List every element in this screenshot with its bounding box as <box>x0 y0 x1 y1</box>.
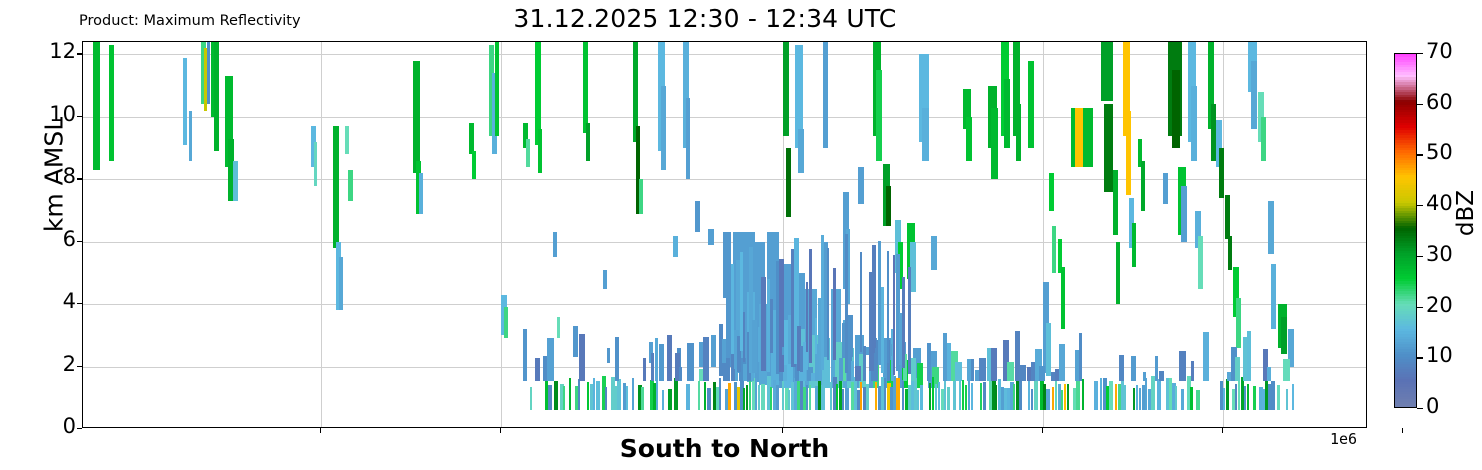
reflectivity-cell <box>1034 381 1038 410</box>
colorbar-tick-mark <box>1417 104 1423 105</box>
reflectivity-cell <box>1238 378 1240 410</box>
reflectivity-cell <box>755 378 757 410</box>
reflectivity-cell <box>1179 351 1186 381</box>
reflectivity-cell <box>965 385 967 410</box>
reflectivity-cell <box>1083 108 1088 167</box>
reflectivity-cell <box>698 381 700 409</box>
reflectivity-cell <box>1064 384 1066 410</box>
reflectivity-cell <box>893 255 895 375</box>
reflectivity-cell <box>1039 366 1045 381</box>
reflectivity-cell <box>1067 384 1069 410</box>
reflectivity-cell <box>1261 117 1266 161</box>
reflectivity-cell <box>902 277 905 369</box>
reflectivity-cell <box>617 379 621 410</box>
reflectivity-cell <box>233 161 238 202</box>
reflectivity-cell <box>504 307 508 338</box>
gridline-horizontal <box>83 179 1366 180</box>
reflectivity-cell <box>858 167 864 204</box>
reflectivity-cell <box>872 245 876 354</box>
reflectivity-cell <box>798 129 804 173</box>
reflectivity-cell <box>662 390 664 410</box>
reflectivity-cell <box>1061 267 1065 329</box>
reflectivity-cell <box>866 384 869 409</box>
reflectivity-cell <box>1031 389 1033 410</box>
reflectivity-cell <box>971 383 973 409</box>
reflectivity-cell <box>1283 359 1290 381</box>
reflectivity-cell <box>783 42 789 136</box>
reflectivity-cell <box>639 179 643 213</box>
reflectivity-cell <box>991 348 997 381</box>
reflectivity-cell <box>1271 264 1276 330</box>
reflectivity-cell <box>1225 195 1230 239</box>
colorbar <box>1394 53 1417 408</box>
colorbar-label: dBZ <box>1453 153 1479 273</box>
reflectivity-cell <box>979 358 986 381</box>
reflectivity-cell <box>860 382 862 410</box>
reflectivity-cell <box>1228 236 1232 270</box>
reflectivity-cell <box>1251 61 1257 130</box>
reflectivity-cell <box>1235 357 1240 380</box>
reflectivity-cell <box>1007 362 1014 381</box>
reflectivity-cell <box>1286 389 1288 410</box>
reflectivity-cell <box>314 142 317 186</box>
x-axis-tick-mark <box>1222 428 1223 433</box>
reflectivity-cell <box>708 229 714 245</box>
reflectivity-cell <box>920 385 923 410</box>
reflectivity-cell <box>1059 344 1065 381</box>
reflectivity-cell <box>548 385 552 410</box>
reflectivity-cell <box>1281 317 1287 354</box>
x-axis-tick-mark <box>1402 428 1403 433</box>
reflectivity-cell <box>991 108 998 180</box>
colorbar-tick-mark <box>1417 408 1423 409</box>
x-axis-label: South to North <box>82 434 1367 463</box>
reflectivity-cell <box>686 98 690 179</box>
y-axis-tick-label: 0 <box>16 414 76 438</box>
reflectivity-cell <box>938 382 940 410</box>
colorbar-tick-label: 30 <box>1426 242 1453 266</box>
y-axis-tick-mark <box>77 116 82 117</box>
reflectivity-cell <box>881 287 884 373</box>
reflectivity-cell <box>1119 355 1124 381</box>
reflectivity-cell <box>695 201 700 232</box>
reflectivity-cell <box>651 353 654 381</box>
reflectivity-cell <box>944 378 946 410</box>
reflectivity-cell <box>823 42 828 148</box>
reflectivity-cell <box>884 378 886 409</box>
colorbar-tick-mark <box>1417 307 1423 308</box>
reflectivity-cell <box>917 390 919 410</box>
reflectivity-cell <box>1004 79 1010 148</box>
colorbar-tick-label: 60 <box>1426 90 1453 114</box>
reflectivity-cell <box>809 249 812 364</box>
reflectivity-cell <box>1131 356 1136 381</box>
reflectivity-cell <box>770 387 772 410</box>
reflectivity-cell <box>348 170 353 201</box>
reflectivity-cell <box>782 381 784 410</box>
reflectivity-cell <box>1247 331 1251 380</box>
reflectivity-cell <box>656 378 658 410</box>
reflectivity-cell <box>593 378 595 410</box>
reflectivity-cell <box>1151 376 1155 409</box>
reflectivity-cell <box>886 186 891 227</box>
reflectivity-cell <box>927 343 931 380</box>
reflectivity-cell <box>1126 111 1131 195</box>
reflectivity-cell <box>743 388 745 410</box>
reflectivity-cell <box>848 315 853 357</box>
reflectivity-cell <box>1271 381 1275 410</box>
reflectivity-cell <box>472 151 476 179</box>
reflectivity-cell <box>1268 201 1274 254</box>
reflectivity-cell <box>1113 170 1118 236</box>
colorbar-tick-label: 50 <box>1426 140 1453 164</box>
reflectivity-cell <box>1079 333 1082 381</box>
reflectivity-cell <box>931 236 937 270</box>
chart-title: 31.12.2025 12:30 - 12:34 UTC <box>0 4 1410 33</box>
colorbar-tick-label: 40 <box>1426 191 1453 215</box>
reflectivity-cell <box>641 387 644 409</box>
reflectivity-cell <box>887 251 889 362</box>
reflectivity-cell <box>955 362 962 380</box>
reflectivity-cell <box>947 387 950 410</box>
reflectivity-cell <box>1052 387 1054 410</box>
colorbar-tick-mark <box>1417 256 1423 257</box>
reflectivity-cell <box>761 277 766 371</box>
reflectivity-cell <box>966 117 972 161</box>
reflectivity-cell <box>523 329 527 380</box>
reflectivity-cell <box>1019 365 1026 381</box>
reflectivity-cell <box>806 282 808 352</box>
reflectivity-cell <box>980 383 982 409</box>
reflectivity-cell <box>1101 42 1113 101</box>
reflectivity-cell <box>1175 386 1177 410</box>
reflectivity-cell <box>761 384 765 410</box>
reflectivity-cell <box>896 378 900 410</box>
reflectivity-cell <box>563 386 565 410</box>
reflectivity-cell <box>722 339 726 362</box>
reflectivity-cell <box>214 42 219 151</box>
reflectivity-cell <box>469 123 474 154</box>
reflectivity-cell <box>413 61 420 173</box>
reflectivity-cell <box>827 248 829 361</box>
y-axis-tick-mark <box>77 366 82 367</box>
colorbar-tick-label: 10 <box>1426 343 1453 367</box>
reflectivity-cell <box>603 270 607 289</box>
reflectivity-cell <box>855 366 861 380</box>
reflectivity-cell <box>749 381 751 409</box>
reflectivity-cell <box>1143 372 1146 381</box>
reflectivity-cell <box>719 378 721 410</box>
reflectivity-cell <box>833 268 836 361</box>
reflectivity-cell <box>538 129 542 173</box>
reflectivity-cell <box>1267 367 1271 381</box>
reflectivity-cell <box>1055 377 1057 410</box>
y-axis-tick-label: 12 <box>16 39 76 63</box>
y-axis-tick-mark <box>77 428 82 429</box>
reflectivity-cell <box>842 389 844 410</box>
reflectivity-cell <box>1172 70 1180 148</box>
reflectivity-cell <box>687 343 694 381</box>
y-axis-tick-mark <box>77 178 82 179</box>
reflectivity-cell <box>573 326 578 357</box>
reflectivity-cell <box>1028 379 1030 410</box>
reflectivity-cell <box>922 108 929 161</box>
reflectivity-cell <box>1136 385 1138 410</box>
reflectivity-cell <box>607 348 610 364</box>
reflectivity-cell <box>983 382 986 410</box>
reflectivity-cell <box>875 382 877 410</box>
reflectivity-cell <box>962 380 964 410</box>
plot-area <box>82 41 1367 428</box>
reflectivity-cell <box>553 232 557 257</box>
reflectivity-cell <box>1159 371 1164 381</box>
reflectivity-cell <box>1181 389 1184 409</box>
reflectivity-cell <box>851 361 854 381</box>
reflectivity-cell <box>770 299 773 352</box>
reflectivity-cell <box>605 387 607 410</box>
reflectivity-cell <box>782 347 784 355</box>
x-axis-tick-mark <box>782 428 783 433</box>
reflectivity-cell <box>1076 380 1080 410</box>
gridline-vertical <box>501 42 502 427</box>
reflectivity-cell <box>786 148 791 217</box>
reflectivity-cell <box>875 348 877 364</box>
x-axis-tick-mark <box>500 428 501 433</box>
reflectivity-cell <box>1145 378 1147 409</box>
reflectivity-cell <box>661 86 666 170</box>
reflectivity-cell <box>686 384 690 410</box>
reflectivity-cell <box>679 367 682 381</box>
reflectivity-cell <box>704 382 706 410</box>
reflectivity-cell <box>707 388 711 409</box>
reflectivity-cell <box>953 380 956 410</box>
reflectivity-cell <box>929 383 931 410</box>
gridline-vertical <box>321 42 322 427</box>
reflectivity-cell <box>1013 384 1015 410</box>
reflectivity-cell <box>596 381 600 410</box>
reflectivity-cell <box>711 335 716 366</box>
reflectivity-cell <box>890 344 892 356</box>
reflectivity-cell <box>752 320 757 373</box>
reflectivity-cell <box>932 377 934 409</box>
reflectivity-cell <box>655 338 658 381</box>
y-axis-tick-label: 4 <box>16 289 76 313</box>
x-axis-tick-mark <box>320 428 321 433</box>
reflectivity-cell <box>1223 388 1225 410</box>
reflectivity-cell <box>578 379 580 409</box>
colorbar-tick-mark <box>1417 53 1423 54</box>
reflectivity-cell <box>183 58 187 145</box>
colorbar-tick-mark <box>1417 154 1423 155</box>
gridline-vertical <box>1223 42 1224 427</box>
reflectivity-cell <box>557 317 560 339</box>
colorbar-tick-label: 70 <box>1426 39 1453 63</box>
reflectivity-cell <box>1191 86 1197 161</box>
reflectivity-cell <box>968 380 970 409</box>
reflectivity-cell <box>743 312 745 362</box>
y-axis-tick-mark <box>77 303 82 304</box>
y-axis-tick-label: 6 <box>16 227 76 251</box>
reflectivity-cell <box>1061 390 1063 410</box>
reflectivity-cell <box>1082 379 1084 410</box>
reflectivity-cell <box>908 267 911 374</box>
reflectivity-cell <box>1141 161 1145 211</box>
reflectivity-cell <box>615 337 619 381</box>
reflectivity-cell <box>1157 379 1161 409</box>
reflectivity-cell <box>815 318 817 355</box>
reflectivity-cell <box>746 385 748 410</box>
reflectivity-cell <box>586 123 590 160</box>
reflectivity-cell <box>1115 384 1117 410</box>
reflectivity-cell <box>1181 186 1187 242</box>
reflectivity-cell <box>1244 386 1246 410</box>
y-axis-tick-mark <box>77 241 82 242</box>
reflectivity-cell <box>995 385 997 409</box>
colorbar-segment <box>1395 53 1416 55</box>
reflectivity-cell <box>1016 104 1021 160</box>
reflectivity-cell <box>845 388 849 410</box>
reflectivity-cell <box>1116 242 1120 304</box>
reflectivity-cell <box>703 337 709 381</box>
reflectivity-cell <box>1247 384 1249 409</box>
reflectivity-cell <box>1190 387 1193 410</box>
x-axis-tick-mark <box>1042 428 1043 433</box>
reflectivity-cell <box>674 378 678 410</box>
reflectivity-cell <box>1196 390 1200 410</box>
reflectivity-cell <box>758 385 760 410</box>
reflectivity-cell <box>836 384 838 410</box>
reflectivity-cell <box>776 385 779 410</box>
colorbar-tick-label: 20 <box>1426 293 1453 317</box>
reflectivity-cell <box>779 259 784 372</box>
reflectivity-cell <box>1292 384 1294 409</box>
reflectivity-cell <box>902 380 904 409</box>
reflectivity-cell <box>1163 173 1168 204</box>
reflectivity-cell <box>1046 389 1050 409</box>
reflectivity-cell <box>758 327 760 362</box>
reflectivity-cell <box>535 358 540 380</box>
y-axis-tick-label: 2 <box>16 352 76 376</box>
y-axis-tick-label: 10 <box>16 102 76 126</box>
reflectivity-cell <box>189 111 192 161</box>
reflectivity-cell <box>526 139 530 167</box>
reflectivity-cell <box>587 382 589 410</box>
reflectivity-cell <box>643 358 646 381</box>
reflectivity-cell <box>667 335 672 380</box>
reflectivity-cell <box>659 344 664 381</box>
reflectivity-cell <box>109 45 114 160</box>
reflectivity-cell <box>1028 61 1034 148</box>
reflectivity-cell <box>1203 332 1209 381</box>
reflectivity-cell <box>668 389 672 410</box>
reflectivity-cell <box>806 385 808 409</box>
reflectivity-cell <box>583 42 588 133</box>
reflectivity-cell <box>959 377 961 409</box>
reflectivity-cell <box>876 70 882 161</box>
reflectivity-cell <box>554 381 558 410</box>
reflectivity-cell <box>809 385 811 410</box>
reflectivity-cell <box>333 126 339 248</box>
reflectivity-cell <box>579 334 585 381</box>
y-axis-tick-label: 8 <box>16 164 76 188</box>
gridline-horizontal <box>83 304 1366 305</box>
reflectivity-cell <box>1124 385 1126 410</box>
reflectivity-cell <box>1100 378 1102 409</box>
reflectivity-cell <box>1109 381 1113 410</box>
reflectivity-cell <box>1235 384 1237 409</box>
reflectivity-cell <box>1155 356 1158 380</box>
reflectivity-cell <box>860 252 862 352</box>
reflectivity-cell <box>1226 379 1229 410</box>
reflectivity-cell <box>1046 323 1051 376</box>
reflectivity-cell <box>339 257 343 310</box>
reflectivity-cell <box>626 386 628 410</box>
reflectivity-cell <box>1219 148 1224 198</box>
colorbar-tick-label: 0 <box>1426 394 1439 418</box>
reflectivity-cell <box>345 126 349 154</box>
reflectivity-cell <box>419 173 423 214</box>
reflectivity-cell <box>1198 236 1203 289</box>
colorbar-tick-mark <box>1417 357 1423 358</box>
data-canvas <box>83 42 1366 427</box>
reflectivity-cell <box>830 382 832 409</box>
x-axis-offset-label: 1e6 <box>1330 430 1357 448</box>
reflectivity-cell <box>1139 388 1141 410</box>
reflectivity-cell <box>207 42 210 104</box>
reflectivity-cell <box>728 383 731 410</box>
reflectivity-cell <box>1049 173 1054 210</box>
reflectivity-cell <box>1133 388 1135 410</box>
reflectivity-cell <box>495 42 499 136</box>
reflectivity-cell <box>935 384 937 410</box>
colorbar-tick-mark <box>1417 205 1423 206</box>
reflectivity-cell <box>569 378 571 409</box>
reflectivity-cell <box>530 387 532 409</box>
radar-cross-section-figure: Product: Maximum Reflectivity 31.12.2025… <box>0 0 1482 470</box>
reflectivity-cell <box>632 378 634 409</box>
reflectivity-cell <box>1132 223 1136 267</box>
reflectivity-cell <box>1094 381 1098 409</box>
reflectivity-cell <box>971 359 974 381</box>
reflectivity-cell <box>1253 386 1256 410</box>
reflectivity-cell <box>1052 226 1056 273</box>
reflectivity-cell <box>1019 376 1022 410</box>
reflectivity-cell <box>788 390 790 410</box>
reflectivity-cell <box>93 133 97 170</box>
reflectivity-cell <box>911 358 916 380</box>
reflectivity-cell <box>821 385 825 410</box>
reflectivity-cell <box>1191 361 1194 381</box>
reflectivity-cell <box>673 236 678 258</box>
reflectivity-cell <box>1236 298 1241 348</box>
reflectivity-cell <box>1277 385 1280 409</box>
reflectivity-cell <box>1104 104 1113 191</box>
y-axis-tick-mark <box>77 53 82 54</box>
reflectivity-cell <box>547 338 554 380</box>
